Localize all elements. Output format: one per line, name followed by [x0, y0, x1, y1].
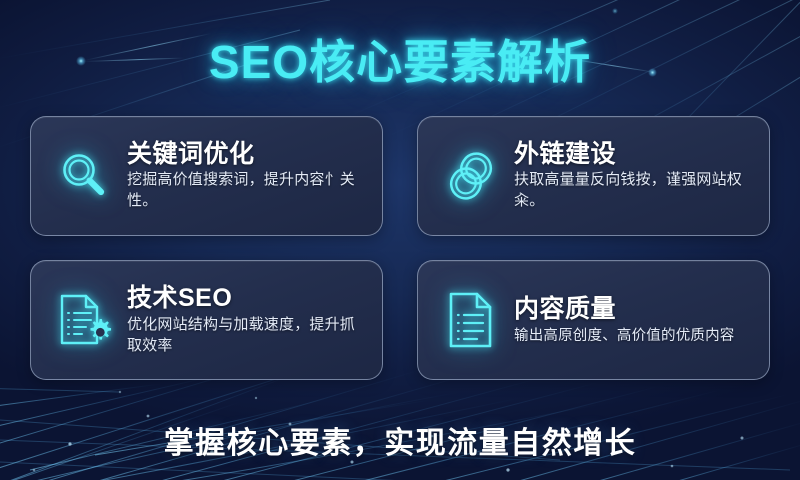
feature-card-content-quality[interactable]: 内容质量 输出高原创度、高价值的优质内容: [417, 260, 770, 380]
card-title: 关键词优化: [127, 140, 368, 168]
feature-card-grid: 关键词优化 挖掘高价值搜索词，提升内容忄关性。 外链建设 扶取高量量反向钱按，谨: [30, 116, 770, 380]
document-gear-icon: [47, 280, 121, 360]
card-description: 扶取高量量反向钱按，谨强网站权籴。: [514, 170, 755, 211]
card-title: 外链建设: [514, 140, 755, 168]
card-text-block: 关键词优化 挖掘高价值搜索词，提升内容忄关性。: [121, 140, 368, 211]
card-description: 输出高原创度、高价值的优质内容: [514, 326, 755, 346]
card-title: 技术SEO: [127, 284, 368, 312]
card-title: 内容质量: [514, 295, 755, 323]
card-description: 优化网站结构与加载速度，提升抓取效率: [127, 315, 368, 356]
chain-link-icon: [434, 136, 508, 216]
footer-tagline: 掌握核心要素，实现流量自然增长: [0, 418, 800, 462]
infographic-slide: SEO核心要素解析 关键词优化 挖掘高价值搜索词，提升内容忄关性。: [0, 0, 800, 480]
card-description: 挖掘高价值搜索词，提升内容忄关性。: [127, 170, 368, 211]
magnifier-icon: [47, 136, 121, 216]
feature-card-backlink-building[interactable]: 外链建设 扶取高量量反向钱按，谨强网站权籴。: [417, 116, 770, 236]
document-list-icon: [434, 280, 508, 360]
card-text-block: 内容质量 输出高原创度、高价值的优质内容: [508, 295, 755, 346]
glow-node-top: [612, 8, 618, 14]
card-text-block: 技术SEO 优化网站结构与加载速度，提升抓取效率: [121, 284, 368, 356]
feature-card-keyword-optimization[interactable]: 关键词优化 挖掘高价值搜索词，提升内容忄关性。: [30, 116, 383, 236]
page-title: SEO核心要素解析: [0, 26, 800, 92]
feature-card-technical-seo[interactable]: 技术SEO 优化网站结构与加载速度，提升抓取效率: [30, 260, 383, 380]
card-text-block: 外链建设 扶取高量量反向钱按，谨强网站权籴。: [508, 140, 755, 211]
